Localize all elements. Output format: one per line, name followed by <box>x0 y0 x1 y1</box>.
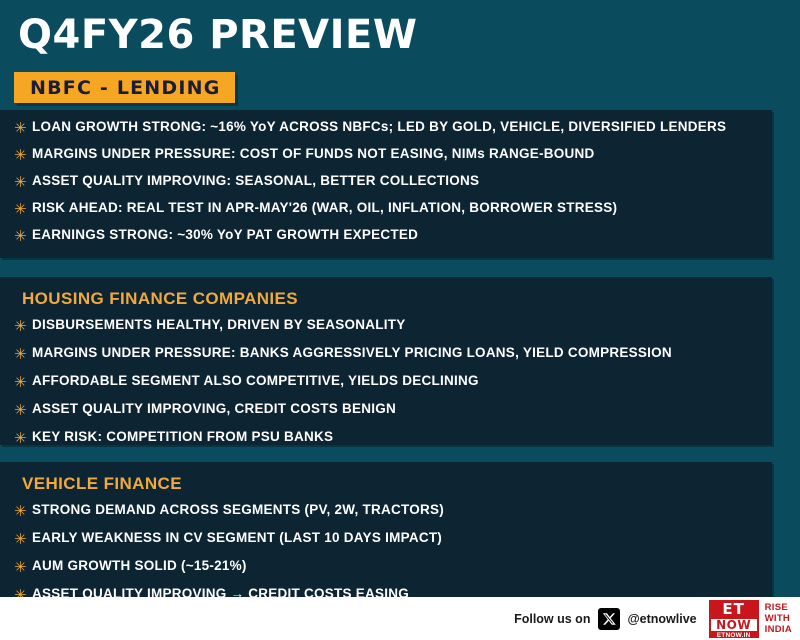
asterisk-bullet-icon: ✳ <box>14 558 32 576</box>
etnow-logo-now: NOW <box>711 619 757 631</box>
etnow-logo-url: ETNOW.IN <box>717 632 751 640</box>
asterisk-bullet-icon: ✳ <box>14 502 32 520</box>
social-handle[interactable]: @etnowlive <box>627 612 696 626</box>
panel-inner: VEHICLE FINANCE ✳ STRONG DEMAND ACROSS S… <box>0 462 772 619</box>
slide-root: Q4FY26 PREVIEW NBFC - LENDING ✳ LOAN GRO… <box>0 0 800 640</box>
list-item: ✳ ASSET QUALITY IMPROVING, CREDIT COSTS … <box>14 400 758 419</box>
section-panel-vehicle-finance: VEHICLE FINANCE ✳ STRONG DEMAND ACROSS S… <box>0 462 772 597</box>
list-item-label: ASSET QUALITY IMPROVING: SEASONAL, BETTE… <box>32 172 479 190</box>
etnow-logo-tagline: RISE WITH INDIA <box>759 600 796 638</box>
list-item-label: MARGINS UNDER PRESSURE: COST OF FUNDS NO… <box>32 145 595 163</box>
list-item-label: MARGINS UNDER PRESSURE: BANKS AGGRESSIVE… <box>32 344 672 362</box>
category-badge-label: NBFC - LENDING <box>30 77 221 99</box>
panel-inner: ✳ LOAN GROWTH STRONG: ~16% YoY ACROSS NB… <box>0 110 772 251</box>
list-item-label: AFFORDABLE SEGMENT ALSO COMPETITIVE, YIE… <box>32 372 479 390</box>
list-item-label: KEY RISK: COMPETITION FROM PSU BANKS <box>32 428 333 446</box>
category-badge: NBFC - LENDING <box>14 72 235 103</box>
list-item: ✳ MARGINS UNDER PRESSURE: COST OF FUNDS … <box>14 145 758 164</box>
list-item-label: EARLY WEAKNESS IN CV SEGMENT (LAST 10 DA… <box>32 529 442 547</box>
list-item-label: ASSET QUALITY IMPROVING, CREDIT COSTS BE… <box>32 400 396 418</box>
list-item-label: STRONG DEMAND ACROSS SEGMENTS (PV, 2W, T… <box>32 501 444 519</box>
list-item: ✳ AUM GROWTH SOLID (~15-21%) <box>14 557 758 576</box>
asterisk-bullet-icon: ✳ <box>14 373 32 391</box>
asterisk-bullet-icon: ✳ <box>14 119 32 137</box>
list-item: ✳ EARLY WEAKNESS IN CV SEGMENT (LAST 10 … <box>14 529 758 548</box>
section-panel-nbfc-lending: ✳ LOAN GROWTH STRONG: ~16% YoY ACROSS NB… <box>0 110 772 258</box>
asterisk-bullet-icon: ✳ <box>14 146 32 164</box>
asterisk-bullet-icon: ✳ <box>14 317 32 335</box>
slide-header: Q4FY26 PREVIEW NBFC - LENDING <box>0 0 800 110</box>
tagline-line-3: INDIA <box>765 624 792 635</box>
tagline-line-1: RISE <box>765 602 792 613</box>
list-item-label: DISBURSEMENTS HEALTHY, DRIVEN BY SEASONA… <box>32 316 406 334</box>
list-item-label: EARNINGS STRONG: ~30% YoY PAT GROWTH EXP… <box>32 226 418 244</box>
bullet-list-housing-finance: ✳ DISBURSEMENTS HEALTHY, DRIVEN BY SEASO… <box>14 316 758 447</box>
list-item: ✳ DISBURSEMENTS HEALTHY, DRIVEN BY SEASO… <box>14 316 758 335</box>
asterisk-bullet-icon: ✳ <box>14 530 32 548</box>
list-item: ✳ LOAN GROWTH STRONG: ~16% YoY ACROSS NB… <box>14 118 758 137</box>
asterisk-bullet-icon: ✳ <box>14 200 32 218</box>
etnow-logo-mark: ET NOW ETNOW.IN <box>709 600 759 638</box>
section-heading-vehicle-finance: VEHICLE FINANCE <box>22 473 758 495</box>
x-twitter-icon[interactable] <box>598 608 620 630</box>
etnow-logo-et: ET <box>722 602 744 617</box>
follow-us-label: Follow us on <box>514 612 590 626</box>
asterisk-bullet-icon: ✳ <box>14 401 32 419</box>
slide-footer: Follow us on @etnowlive ET NOW ETNOW.IN … <box>0 597 800 640</box>
asterisk-bullet-icon: ✳ <box>14 429 32 447</box>
section-panel-housing-finance: HOUSING FINANCE COMPANIES ✳ DISBURSEMENT… <box>0 277 772 445</box>
section-heading-housing-finance: HOUSING FINANCE COMPANIES <box>22 288 758 310</box>
bullet-list-nbfc-lending: ✳ LOAN GROWTH STRONG: ~16% YoY ACROSS NB… <box>14 118 758 245</box>
page-title: Q4FY26 PREVIEW <box>18 12 417 58</box>
panel-inner: HOUSING FINANCE COMPANIES ✳ DISBURSEMENT… <box>0 277 772 462</box>
list-item: ✳ ASSET QUALITY IMPROVING: SEASONAL, BET… <box>14 172 758 191</box>
list-item: ✳ AFFORDABLE SEGMENT ALSO COMPETITIVE, Y… <box>14 372 758 391</box>
asterisk-bullet-icon: ✳ <box>14 173 32 191</box>
tagline-line-2: WITH <box>765 613 792 624</box>
list-item-label: LOAN GROWTH STRONG: ~16% YoY ACROSS NBFC… <box>32 118 726 136</box>
asterisk-bullet-icon: ✳ <box>14 345 32 363</box>
list-item: ✳ STRONG DEMAND ACROSS SEGMENTS (PV, 2W,… <box>14 501 758 520</box>
asterisk-bullet-icon: ✳ <box>14 227 32 245</box>
list-item: ✳ KEY RISK: COMPETITION FROM PSU BANKS <box>14 428 758 447</box>
list-item: ✳ RISK AHEAD: REAL TEST IN APR-MAY'26 (W… <box>14 199 758 218</box>
list-item: ✳ EARNINGS STRONG: ~30% YoY PAT GROWTH E… <box>14 226 758 245</box>
etnow-logo: ET NOW ETNOW.IN RISE WITH INDIA <box>709 600 796 638</box>
list-item-label: AUM GROWTH SOLID (~15-21%) <box>32 557 247 575</box>
list-item: ✳ MARGINS UNDER PRESSURE: BANKS AGGRESSI… <box>14 344 758 363</box>
list-item-label: RISK AHEAD: REAL TEST IN APR-MAY'26 (WAR… <box>32 199 617 217</box>
bullet-list-vehicle-finance: ✳ STRONG DEMAND ACROSS SEGMENTS (PV, 2W,… <box>14 501 758 604</box>
